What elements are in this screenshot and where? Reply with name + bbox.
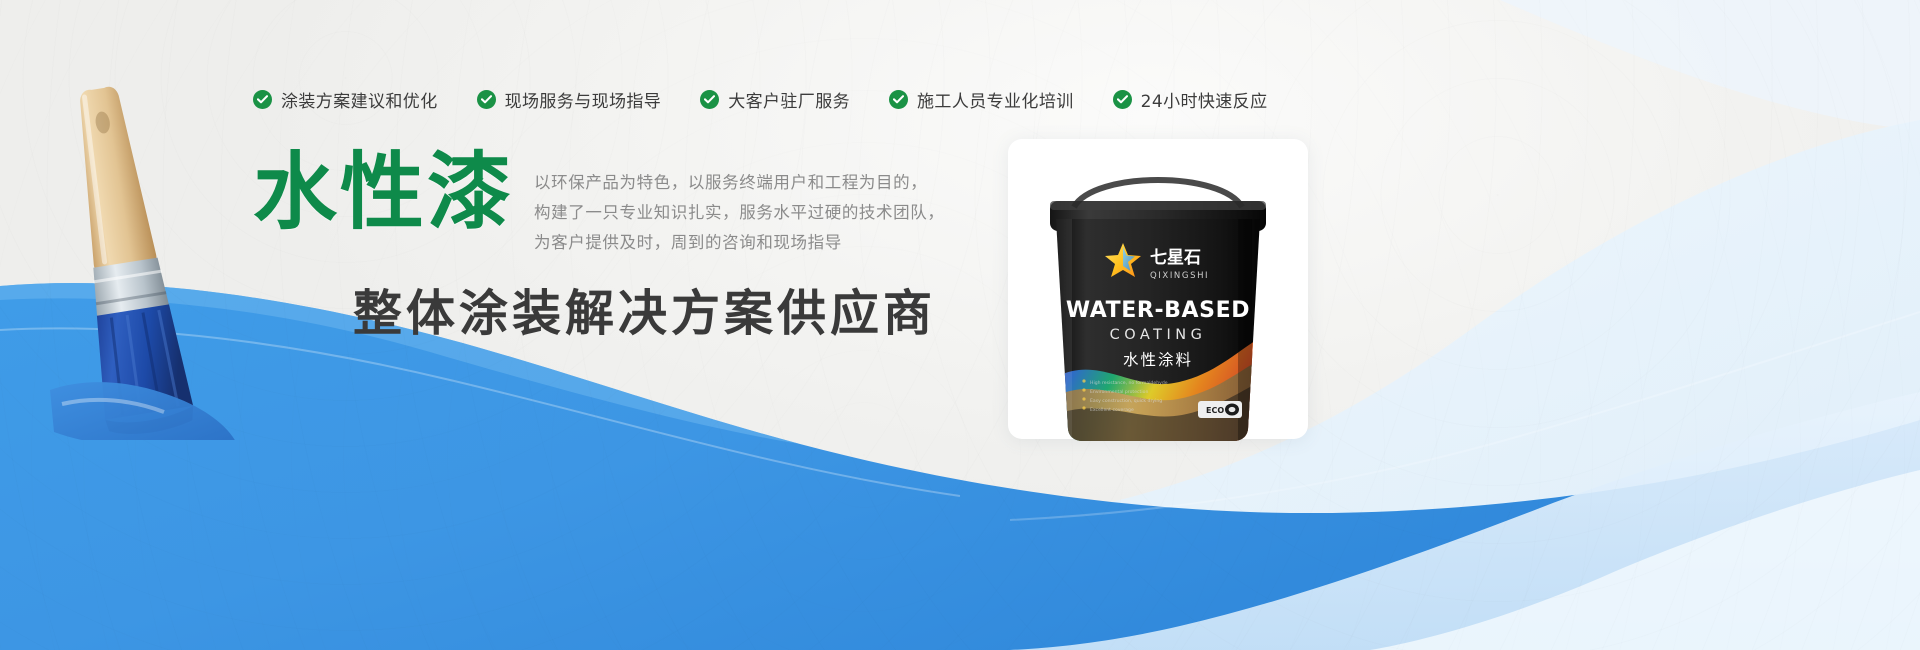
svg-text:ECO: ECO [1206, 406, 1224, 415]
svg-text:Environmental protection: Environmental protection [1090, 389, 1148, 395]
check-circle-icon [477, 90, 496, 109]
hero-text-block: 水性漆 以环保产品为特色，以服务终端用户和工程为目的， 构建了一只专业知识扎实，… [253, 150, 944, 345]
feature-label: 涂装方案建议和优化 [281, 87, 438, 112]
eco-badge: ECO [1198, 401, 1242, 418]
feature-list: 涂装方案建议和优化 现场服务与现场指导 大客户驻厂服务 施工人员专业化培训 24 [0, 82, 1920, 116]
check-circle-icon [253, 90, 272, 109]
svg-text:High resistance, no formaldehy: High resistance, no formaldehyde [1090, 380, 1168, 386]
check-circle-icon [700, 90, 719, 109]
paint-bucket-product[interactable]: 七星石 QIXINGSHI WATER-BASED COATING 水性涂料 H… [1010, 145, 1306, 445]
svg-text:Excellent coverage: Excellent coverage [1090, 407, 1134, 413]
description-line: 构建了一只专业知识扎实，服务水平过硬的技术团队， [534, 198, 944, 228]
feature-item-4[interactable]: 施工人员专业化培训 [889, 87, 1074, 112]
product-title-en: WATER-BASED [1066, 298, 1250, 323]
hero-description: 以环保产品为特色，以服务终端用户和工程为目的， 构建了一只专业知识扎实，服务水平… [534, 168, 944, 258]
feature-label: 大客户驻厂服务 [728, 87, 850, 112]
feature-label: 现场服务与现场指导 [505, 87, 662, 112]
hero-headline: 水性漆 [253, 150, 514, 234]
brand-name-cn: 七星石 [1150, 248, 1201, 268]
feature-item-3[interactable]: 大客户驻厂服务 [700, 87, 850, 112]
hero-banner: 涂装方案建议和优化 现场服务与现场指导 大客户驻厂服务 施工人员专业化培训 24 [0, 0, 1920, 650]
product-subtitle-en: COATING [1110, 327, 1207, 343]
svg-text:Easy construction, quick dryin: Easy construction, quick drying [1090, 398, 1162, 404]
feature-item-5[interactable]: 24小时快速反应 [1113, 87, 1268, 112]
brand-name-en: QIXINGSHI [1150, 271, 1209, 281]
check-circle-icon [889, 90, 908, 109]
feature-item-2[interactable]: 现场服务与现场指导 [477, 87, 662, 112]
product-title-cn: 水性涂料 [1123, 351, 1193, 369]
feature-label: 24小时快速反应 [1141, 87, 1268, 112]
hero-tagline: 整体涂装解决方案供应商 [353, 274, 944, 345]
check-circle-icon [1113, 90, 1132, 109]
paint-brush-illustration [40, 60, 270, 440]
description-line: 为客户提供及时，周到的咨询和现场指导 [534, 228, 944, 258]
description-line: 以环保产品为特色，以服务终端用户和工程为目的， [534, 168, 944, 198]
feature-item-1[interactable]: 涂装方案建议和优化 [253, 87, 438, 112]
feature-label: 施工人员专业化培训 [917, 87, 1074, 112]
